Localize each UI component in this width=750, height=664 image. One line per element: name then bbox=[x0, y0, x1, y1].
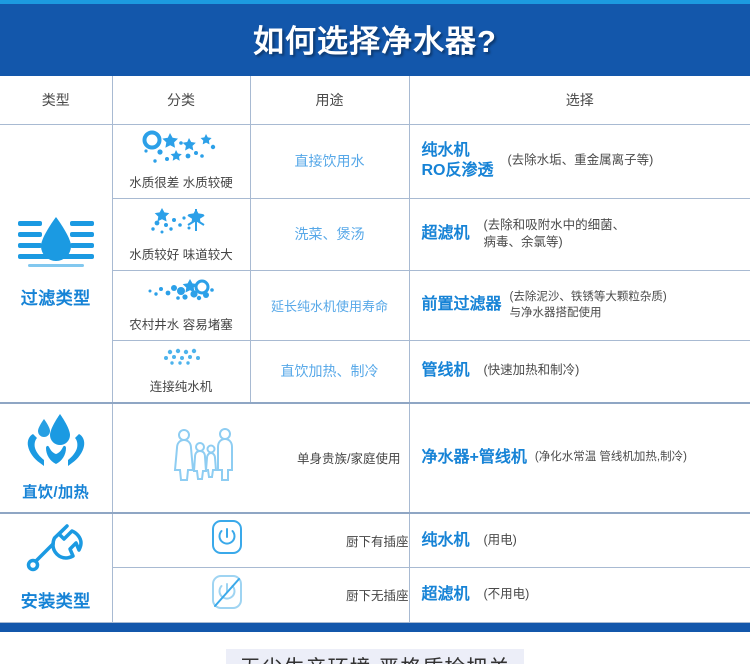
section-type-install: 安装类型 bbox=[0, 513, 112, 623]
pick-cell: 纯水机 RO反渗透 (去除水垢、重金属离子等) bbox=[409, 124, 750, 198]
table-row: 连接纯水机 直饮加热、制冷 管线机 (快速加热和制冷) bbox=[0, 340, 750, 403]
class-cell: 水质较好 味道较大 bbox=[112, 198, 250, 270]
pick-name: 净水器+管线机 bbox=[422, 448, 527, 468]
table-header-row: 类型 分类 用途 选择 bbox=[0, 76, 750, 124]
pick-note: (快速加热和制冷) bbox=[484, 362, 580, 380]
table-row: 厨下无插座 超滤机 (不用电) bbox=[0, 568, 750, 622]
column-header-pick: 选择 bbox=[409, 76, 750, 124]
pick-name: 纯水机 bbox=[422, 531, 470, 551]
use-cell: 直接饮用水 bbox=[250, 124, 409, 198]
footer-divider-bar bbox=[0, 623, 750, 632]
column-header-use: 用途 bbox=[250, 76, 409, 124]
class-label: 厨下有插座 bbox=[346, 531, 409, 550]
type-label: 直饮/加热 bbox=[22, 484, 89, 501]
table-row: 直饮/加热 bbox=[0, 403, 750, 513]
pick-cell: 管线机 (快速加热和制冷) bbox=[409, 340, 750, 403]
pick-note-line: 与净水器搭配使用 bbox=[510, 305, 667, 321]
class-label: 单身贵族/家庭使用 bbox=[297, 448, 400, 467]
hands-water-drop-icon bbox=[2, 410, 110, 477]
section-type-filter: 过滤类型 bbox=[0, 124, 112, 403]
pick-cell: 前置过滤器 (去除泥沙、铁锈等大颗粒杂质) 与净水器搭配使用 bbox=[409, 270, 750, 340]
pick-name: 纯水机 RO反渗透 bbox=[422, 141, 494, 180]
class-label: 厨下无插座 bbox=[346, 585, 409, 604]
footer-text: 无尘生产环境 严格质检把关 bbox=[226, 649, 525, 664]
scatter-particles-small-icon bbox=[117, 346, 246, 375]
page-title: 如何选择净水器? bbox=[253, 16, 497, 61]
pick-note: (去除泥沙、铁锈等大颗粒杂质) 与净水器搭配使用 bbox=[510, 289, 667, 321]
pick-name-line: 纯水机 bbox=[422, 141, 494, 161]
class-label: 水质较好 味道较大 bbox=[129, 248, 232, 262]
class-cell: 厨下有插座 bbox=[112, 513, 409, 568]
column-header-class: 分类 bbox=[112, 76, 250, 124]
footer: 无尘生产环境 严格质检把关 bbox=[0, 632, 750, 664]
header-banner: 如何选择净水器? bbox=[0, 0, 750, 76]
class-cell: 水质很差 水质较硬 bbox=[112, 124, 250, 198]
pick-cell: 净水器+管线机 (净化水常温 管线机加热,制冷) bbox=[409, 403, 750, 513]
no-power-socket-icon bbox=[210, 572, 244, 617]
pick-note-line: (去除和吸附水中的细菌、 bbox=[484, 217, 626, 235]
use-cell: 延长纯水机使用寿命 bbox=[250, 270, 409, 340]
power-socket-icon bbox=[210, 517, 244, 562]
comparison-table: 类型 分类 用途 选择 bbox=[0, 76, 750, 623]
class-label: 农村井水 容易堵塞 bbox=[129, 318, 232, 332]
class-cell: 厨下无插座 bbox=[112, 568, 409, 622]
use-cell: 洗菜、煲汤 bbox=[250, 198, 409, 270]
use-cell: 直饮加热、制冷 bbox=[250, 340, 409, 403]
pick-cell: 纯水机 (用电) bbox=[409, 513, 750, 568]
pick-name-line: RO反渗透 bbox=[422, 161, 494, 181]
pick-name: 超滤机 bbox=[422, 585, 470, 605]
pick-note: (去除水垢、重金属离子等) bbox=[508, 152, 654, 170]
pick-cell: 超滤机 (不用电) bbox=[409, 568, 750, 622]
table-row: 农村井水 容易堵塞 延长纯水机使用寿命 前置过滤器 (去除泥沙、铁锈等大颗粒杂质… bbox=[0, 270, 750, 340]
water-drop-filter-icon bbox=[2, 213, 110, 280]
pick-name: 超滤机 bbox=[422, 224, 470, 244]
wrench-icon bbox=[2, 520, 110, 583]
scatter-particles-large-icon bbox=[117, 276, 246, 313]
family-people-icon bbox=[173, 426, 235, 489]
pick-note: (不用电) bbox=[484, 586, 530, 604]
pick-name: 管线机 bbox=[422, 361, 470, 381]
table-row: 水质较好 味道较大 洗菜、煲汤 超滤机 (去除和吸附水中的细菌、 病毒、余氯等) bbox=[0, 198, 750, 270]
pick-cell: 超滤机 (去除和吸附水中的细菌、 病毒、余氯等) bbox=[409, 198, 750, 270]
scatter-particles-medium-icon bbox=[117, 204, 246, 243]
pick-note: (去除和吸附水中的细菌、 病毒、余氯等) bbox=[484, 217, 626, 252]
scatter-particles-heavy-icon bbox=[117, 130, 246, 171]
class-cell: 连接纯水机 bbox=[112, 340, 250, 403]
pick-note: (净化水常温 管线机加热,制冷) bbox=[535, 449, 687, 465]
pick-note-line: 病毒、余氯等) bbox=[484, 234, 626, 252]
pick-note: (用电) bbox=[484, 532, 517, 550]
class-cell: 单身贵族/家庭使用 bbox=[112, 403, 409, 513]
table-row: 安装类型 厨下有插座 bbox=[0, 513, 750, 568]
type-label: 安装类型 bbox=[21, 592, 91, 611]
infographic-page: 如何选择净水器? 类型 分类 用途 选择 bbox=[0, 0, 750, 664]
pick-note-line: (去除泥沙、铁锈等大颗粒杂质) bbox=[510, 289, 667, 305]
class-label: 水质很差 水质较硬 bbox=[129, 176, 232, 190]
pick-name: 前置过滤器 bbox=[422, 295, 502, 315]
class-label: 连接纯水机 bbox=[150, 380, 213, 394]
class-cell: 农村井水 容易堵塞 bbox=[112, 270, 250, 340]
table-row: 过滤类型 bbox=[0, 124, 750, 198]
type-label: 过滤类型 bbox=[21, 289, 91, 308]
column-header-type: 类型 bbox=[0, 76, 112, 124]
section-type-drink-heat: 直饮/加热 bbox=[0, 403, 112, 513]
